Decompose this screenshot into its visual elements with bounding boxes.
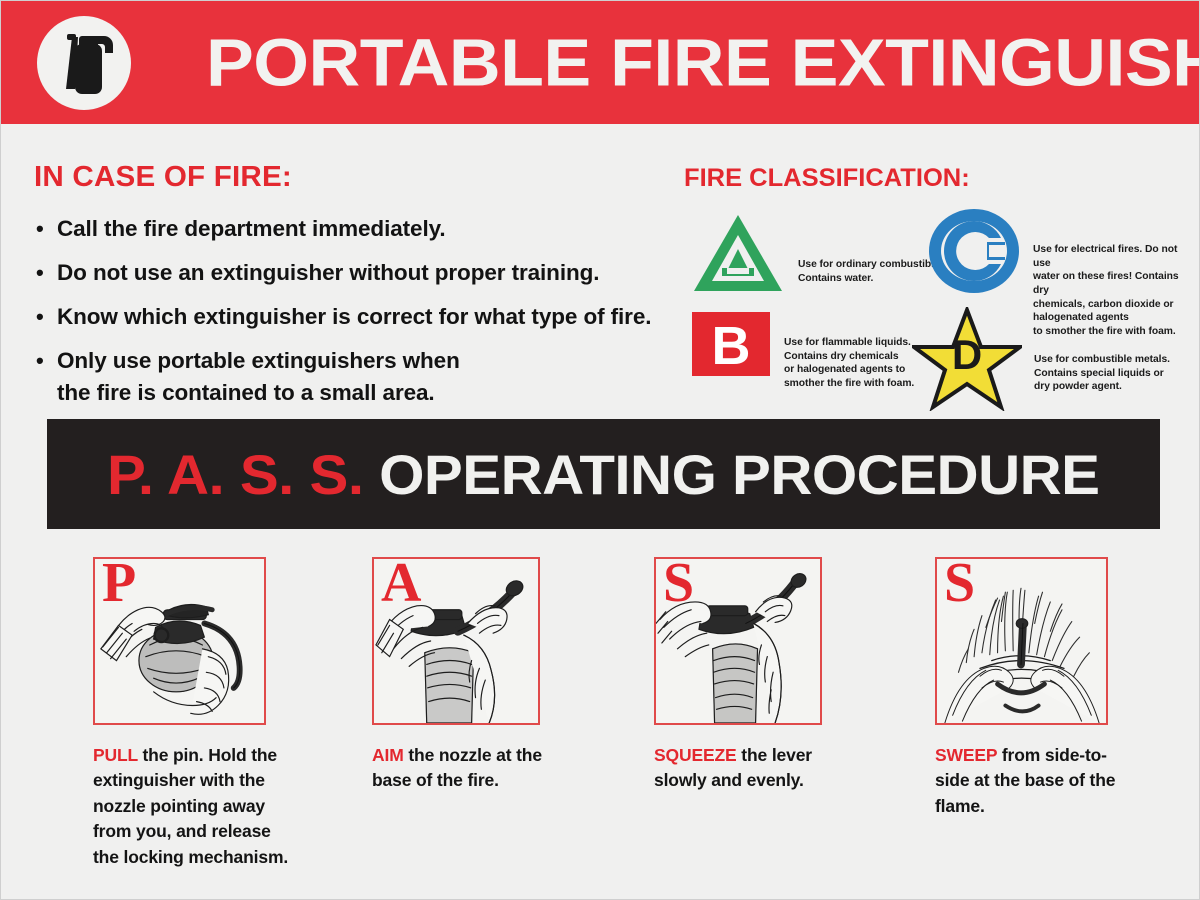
fire-extinguisher-safety-poster: PORTABLE FIRE EXTINGUISHERS IN CASE OF F… — [0, 0, 1200, 900]
list-item-line1: Do not use an extinguisher without prope… — [57, 260, 599, 285]
step-caption: PULL the pin. Hold the extinguisher with… — [93, 743, 293, 870]
class-a-triangle-icon — [692, 213, 784, 298]
fire-class-b: B Use for flammable liquids. Contains dr… — [692, 312, 914, 391]
pass-banner-rest: OPERATING PROCEDURE — [379, 443, 1099, 506]
fire-classification-title: FIRE CLASSIFICATION: — [684, 164, 1194, 193]
in-case-of-fire-list: • Call the fire department immediately. … — [34, 213, 674, 409]
list-item-line2: the fire is contained to a small area. — [57, 377, 674, 409]
list-item-line1: Only use portable extinguishers when — [57, 348, 460, 373]
pass-step-pull: P — [93, 557, 308, 870]
list-item: • Do not use an extinguisher without pro… — [34, 257, 674, 289]
sweep-side-to-side-illustration: S — [935, 557, 1108, 725]
list-item-line1: Know which extinguisher is correct for w… — [57, 304, 651, 329]
list-item: • Know which extinguisher is correct for… — [34, 301, 674, 333]
step-keyword: SQUEEZE — [654, 745, 737, 765]
fire-class-d: D Use for combustible metals. Contains s… — [912, 307, 1170, 416]
fire-extinguisher-icon — [35, 14, 133, 112]
pass-banner-text: P. A. S. S. OPERATING PROCEDURE — [107, 442, 1099, 507]
step-caption: AIM the nozzle at the base of the fire. — [372, 743, 572, 794]
bullet-glyph: • — [36, 345, 44, 376]
pass-step-sweep: S — [935, 557, 1150, 819]
step-keyword: SWEEP — [935, 745, 997, 765]
svg-text:B: B — [712, 316, 751, 376]
list-item: • Only use portable extinguishers when t… — [34, 345, 674, 409]
fire-classification-section: FIRE CLASSIFICATION: Use for ordinary co… — [684, 164, 1184, 407]
pass-operating-procedure-banner: P. A. S. S. OPERATING PROCEDURE — [47, 419, 1160, 529]
list-item-line1: Call the fire department immediately. — [57, 216, 446, 241]
class-d-star-icon: D — [912, 307, 1022, 416]
step-caption: SWEEP from side-to-side at the base of t… — [935, 743, 1135, 819]
in-case-of-fire-title: IN CASE OF FIRE: — [34, 161, 687, 194]
fire-class-a: Use for ordinary combustibles. Contains … — [692, 213, 948, 298]
poster-header: PORTABLE FIRE EXTINGUISHERS — [1, 1, 1200, 124]
class-b-square-icon: B — [692, 312, 770, 381]
step-letter: S — [944, 557, 975, 611]
class-a-description: Use for ordinary combustibles. Contains … — [798, 258, 948, 285]
fire-classification-grid: Use for ordinary combustibles. Contains … — [684, 207, 1189, 407]
class-c-circle-icon — [927, 207, 1021, 300]
pass-steps-row: P — [1, 557, 1200, 897]
step-letter: A — [381, 557, 421, 611]
class-d-description: Use for combustible metals. Contains spe… — [1034, 353, 1170, 394]
in-case-of-fire-section: IN CASE OF FIRE: • Call the fire departm… — [34, 161, 674, 421]
bullet-glyph: • — [36, 213, 44, 244]
pass-step-aim: A — [372, 557, 587, 794]
bullet-glyph: • — [36, 257, 44, 288]
step-letter: S — [663, 557, 694, 611]
page-title: PORTABLE FIRE EXTINGUISHERS — [206, 24, 1200, 101]
class-b-description: Use for flammable liquids. Contains dry … — [784, 336, 914, 391]
pass-step-squeeze: S — [654, 557, 869, 794]
step-keyword: AIM — [372, 745, 404, 765]
pass-acronym: P. A. S. S. — [107, 443, 363, 506]
svg-text:D: D — [952, 331, 982, 378]
pull-the-pin-illustration: P — [93, 557, 266, 725]
step-keyword: PULL — [93, 745, 138, 765]
squeeze-the-lever-illustration: S — [654, 557, 822, 725]
step-caption: SQUEEZE the lever slowly and evenly. — [654, 743, 854, 794]
aim-the-nozzle-illustration: A — [372, 557, 540, 725]
list-item: • Call the fire department immediately. — [34, 213, 674, 245]
bullet-glyph: • — [36, 301, 44, 332]
step-letter: P — [102, 557, 136, 611]
